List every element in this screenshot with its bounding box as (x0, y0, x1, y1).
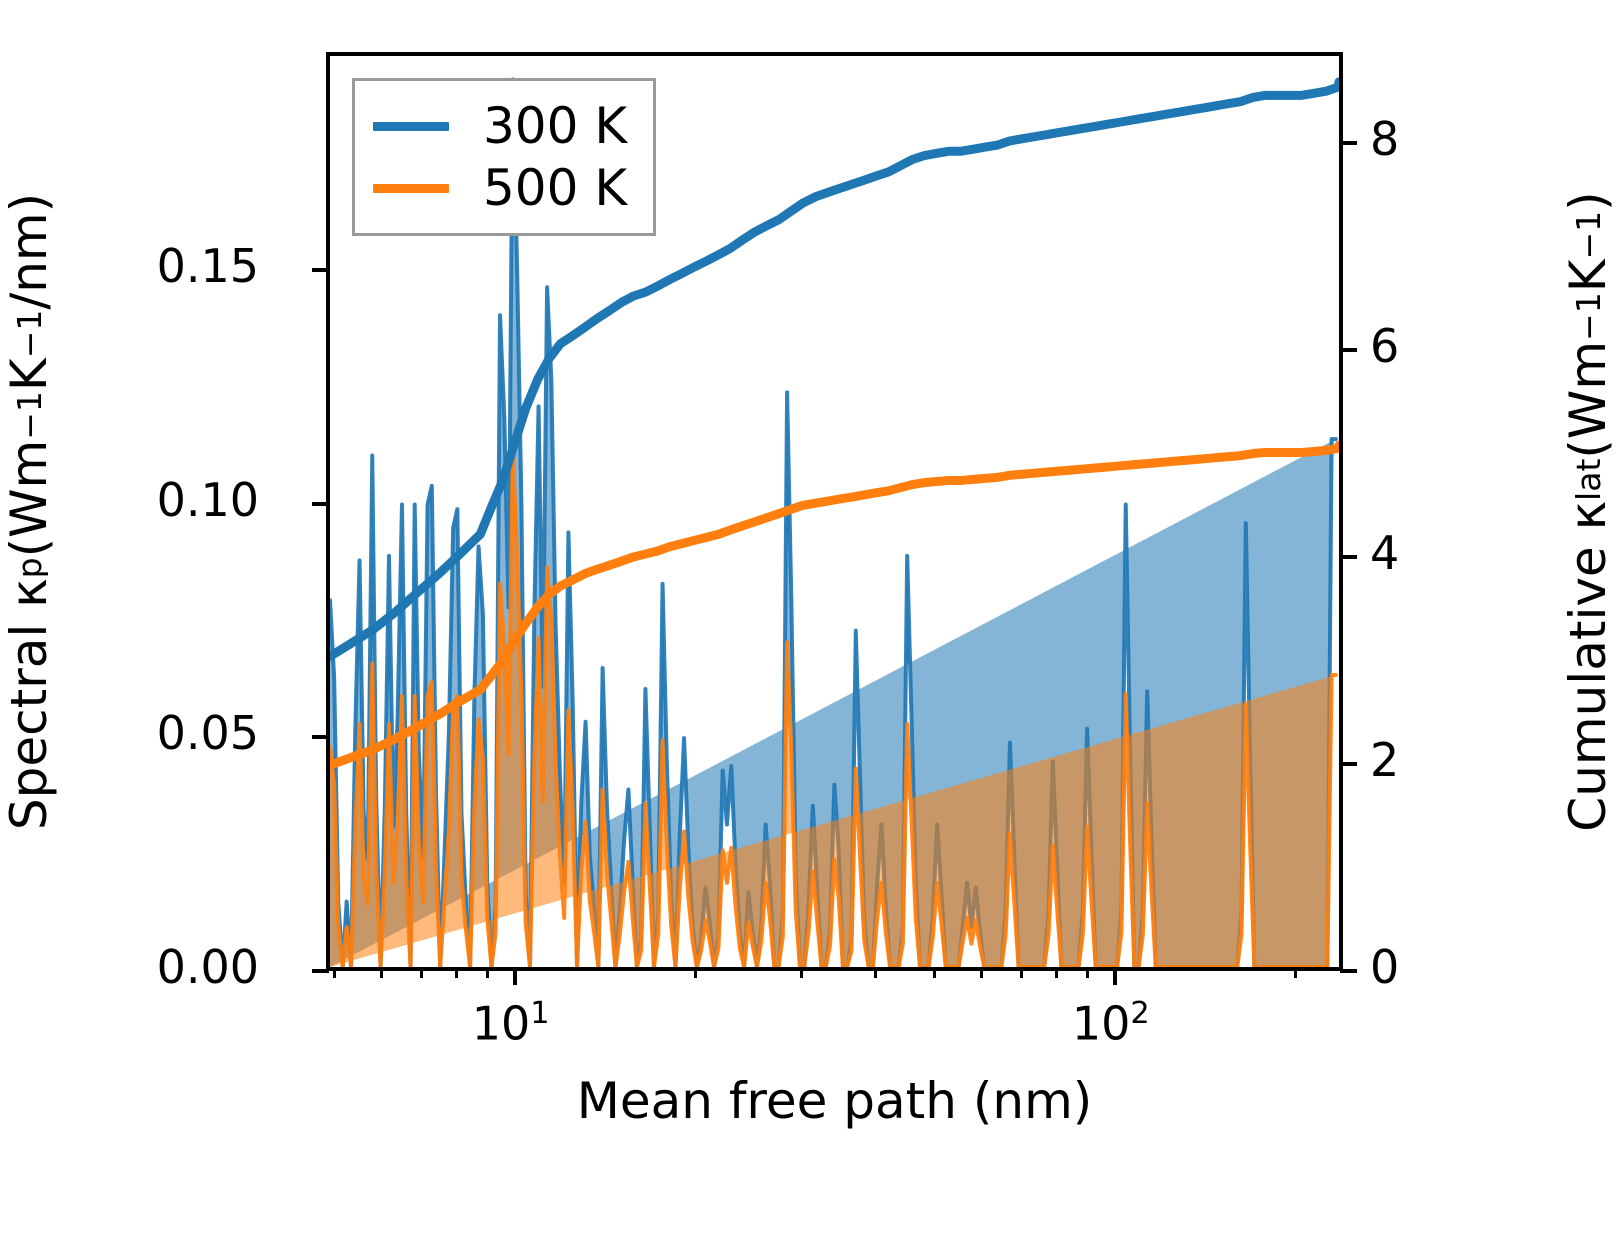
x-tick-minor-13 (1294, 968, 1297, 978)
y-left-title-sup2: −1 (10, 310, 49, 359)
y-tick-left-1 (312, 735, 329, 739)
y-axis-right-title: Cumulative κlat (Wm−1K−1) (1553, 52, 1623, 971)
y-tick-right-3 (1340, 348, 1357, 352)
y-ticklabel-left-3: 0.15 (157, 239, 259, 293)
y-right-title-k: K (1559, 259, 1617, 292)
y-ticklabel-right-1: 2 (1370, 733, 1399, 787)
y-tick-right-1 (1340, 762, 1357, 766)
y-tick-right-2 (1340, 555, 1357, 559)
x-tick-minor-7 (874, 968, 877, 978)
x-tick-minor-1 (380, 968, 383, 978)
x-tick-minor-6 (800, 968, 803, 978)
y-ticklabel-left-2: 0.10 (157, 473, 259, 527)
y-tick-right-4 (1340, 141, 1357, 145)
y-ticklabel-right-2: 4 (1370, 526, 1399, 580)
y-right-title-mid: (Wm (1559, 341, 1617, 459)
y-ticklabel-right-0: 0 (1370, 940, 1399, 994)
y-left-title-pre: Spectral κ (0, 578, 58, 830)
y-left-title-k: K (0, 358, 58, 391)
x-tick-major-0 (513, 968, 517, 985)
x-tick-minor-9 (980, 968, 983, 978)
x-tick-minor-0 (333, 968, 336, 978)
legend-swatch-icon (373, 184, 449, 193)
y-right-title-sub: lat (1569, 459, 1608, 501)
x-ticklabel-0: 101 (472, 996, 550, 1050)
y-right-title-sup2: −1 (1569, 211, 1608, 260)
y-right-title-sup1: −1 (1569, 292, 1608, 341)
x-tick-minor-5 (694, 968, 697, 978)
chart-legend[interactable]: 300 K500 K (352, 78, 656, 236)
y-tick-left-2 (312, 502, 329, 506)
x-tick-major-1 (1113, 968, 1117, 985)
y-ticklabel-right-3: 6 (1370, 319, 1399, 373)
legend-swatch-icon (373, 122, 449, 131)
x-tick-minor-12 (1086, 968, 1089, 978)
legend-label: 300 K (483, 97, 627, 155)
x-tick-minor-2 (420, 968, 423, 978)
legend-entry-300-k[interactable]: 300 K (373, 95, 627, 157)
x-tick-minor-8 (933, 968, 936, 978)
y-right-title-post: ) (1559, 191, 1617, 211)
figure-canvas: Spectral κp (Wm−1K−1/nm) Cumulative κlat… (0, 0, 1623, 1254)
y-left-title-mid: (Wm (0, 440, 58, 558)
x-tick-minor-11 (1055, 968, 1058, 978)
y-ticklabel-right-4: 8 (1370, 112, 1399, 166)
x-ticklabel-1: 102 (1072, 996, 1150, 1050)
y-left-title-sub: p (10, 557, 49, 578)
x-tick-minor-10 (1020, 968, 1023, 978)
y-tick-right-0 (1340, 969, 1357, 973)
y-ticklabel-left-0: 0.00 (157, 940, 259, 994)
x-tick-minor-4 (486, 968, 489, 978)
y-tick-left-0 (312, 969, 329, 973)
x-tick-minor-3 (455, 968, 458, 978)
y-tick-left-3 (312, 268, 329, 272)
legend-entry-500-k[interactable]: 500 K (373, 157, 627, 219)
y-ticklabel-left-1: 0.05 (157, 706, 259, 760)
x-axis-title: Mean free path (nm) (326, 1072, 1343, 1130)
y-left-title-sup1: −1 (10, 391, 49, 440)
y-left-title-post: /nm) (0, 193, 58, 310)
y-axis-left-title: Spectral κp (Wm−1K−1/nm) (0, 52, 64, 971)
y-right-title-pre: Cumulative κ (1559, 501, 1617, 832)
legend-label: 500 K (483, 159, 627, 217)
